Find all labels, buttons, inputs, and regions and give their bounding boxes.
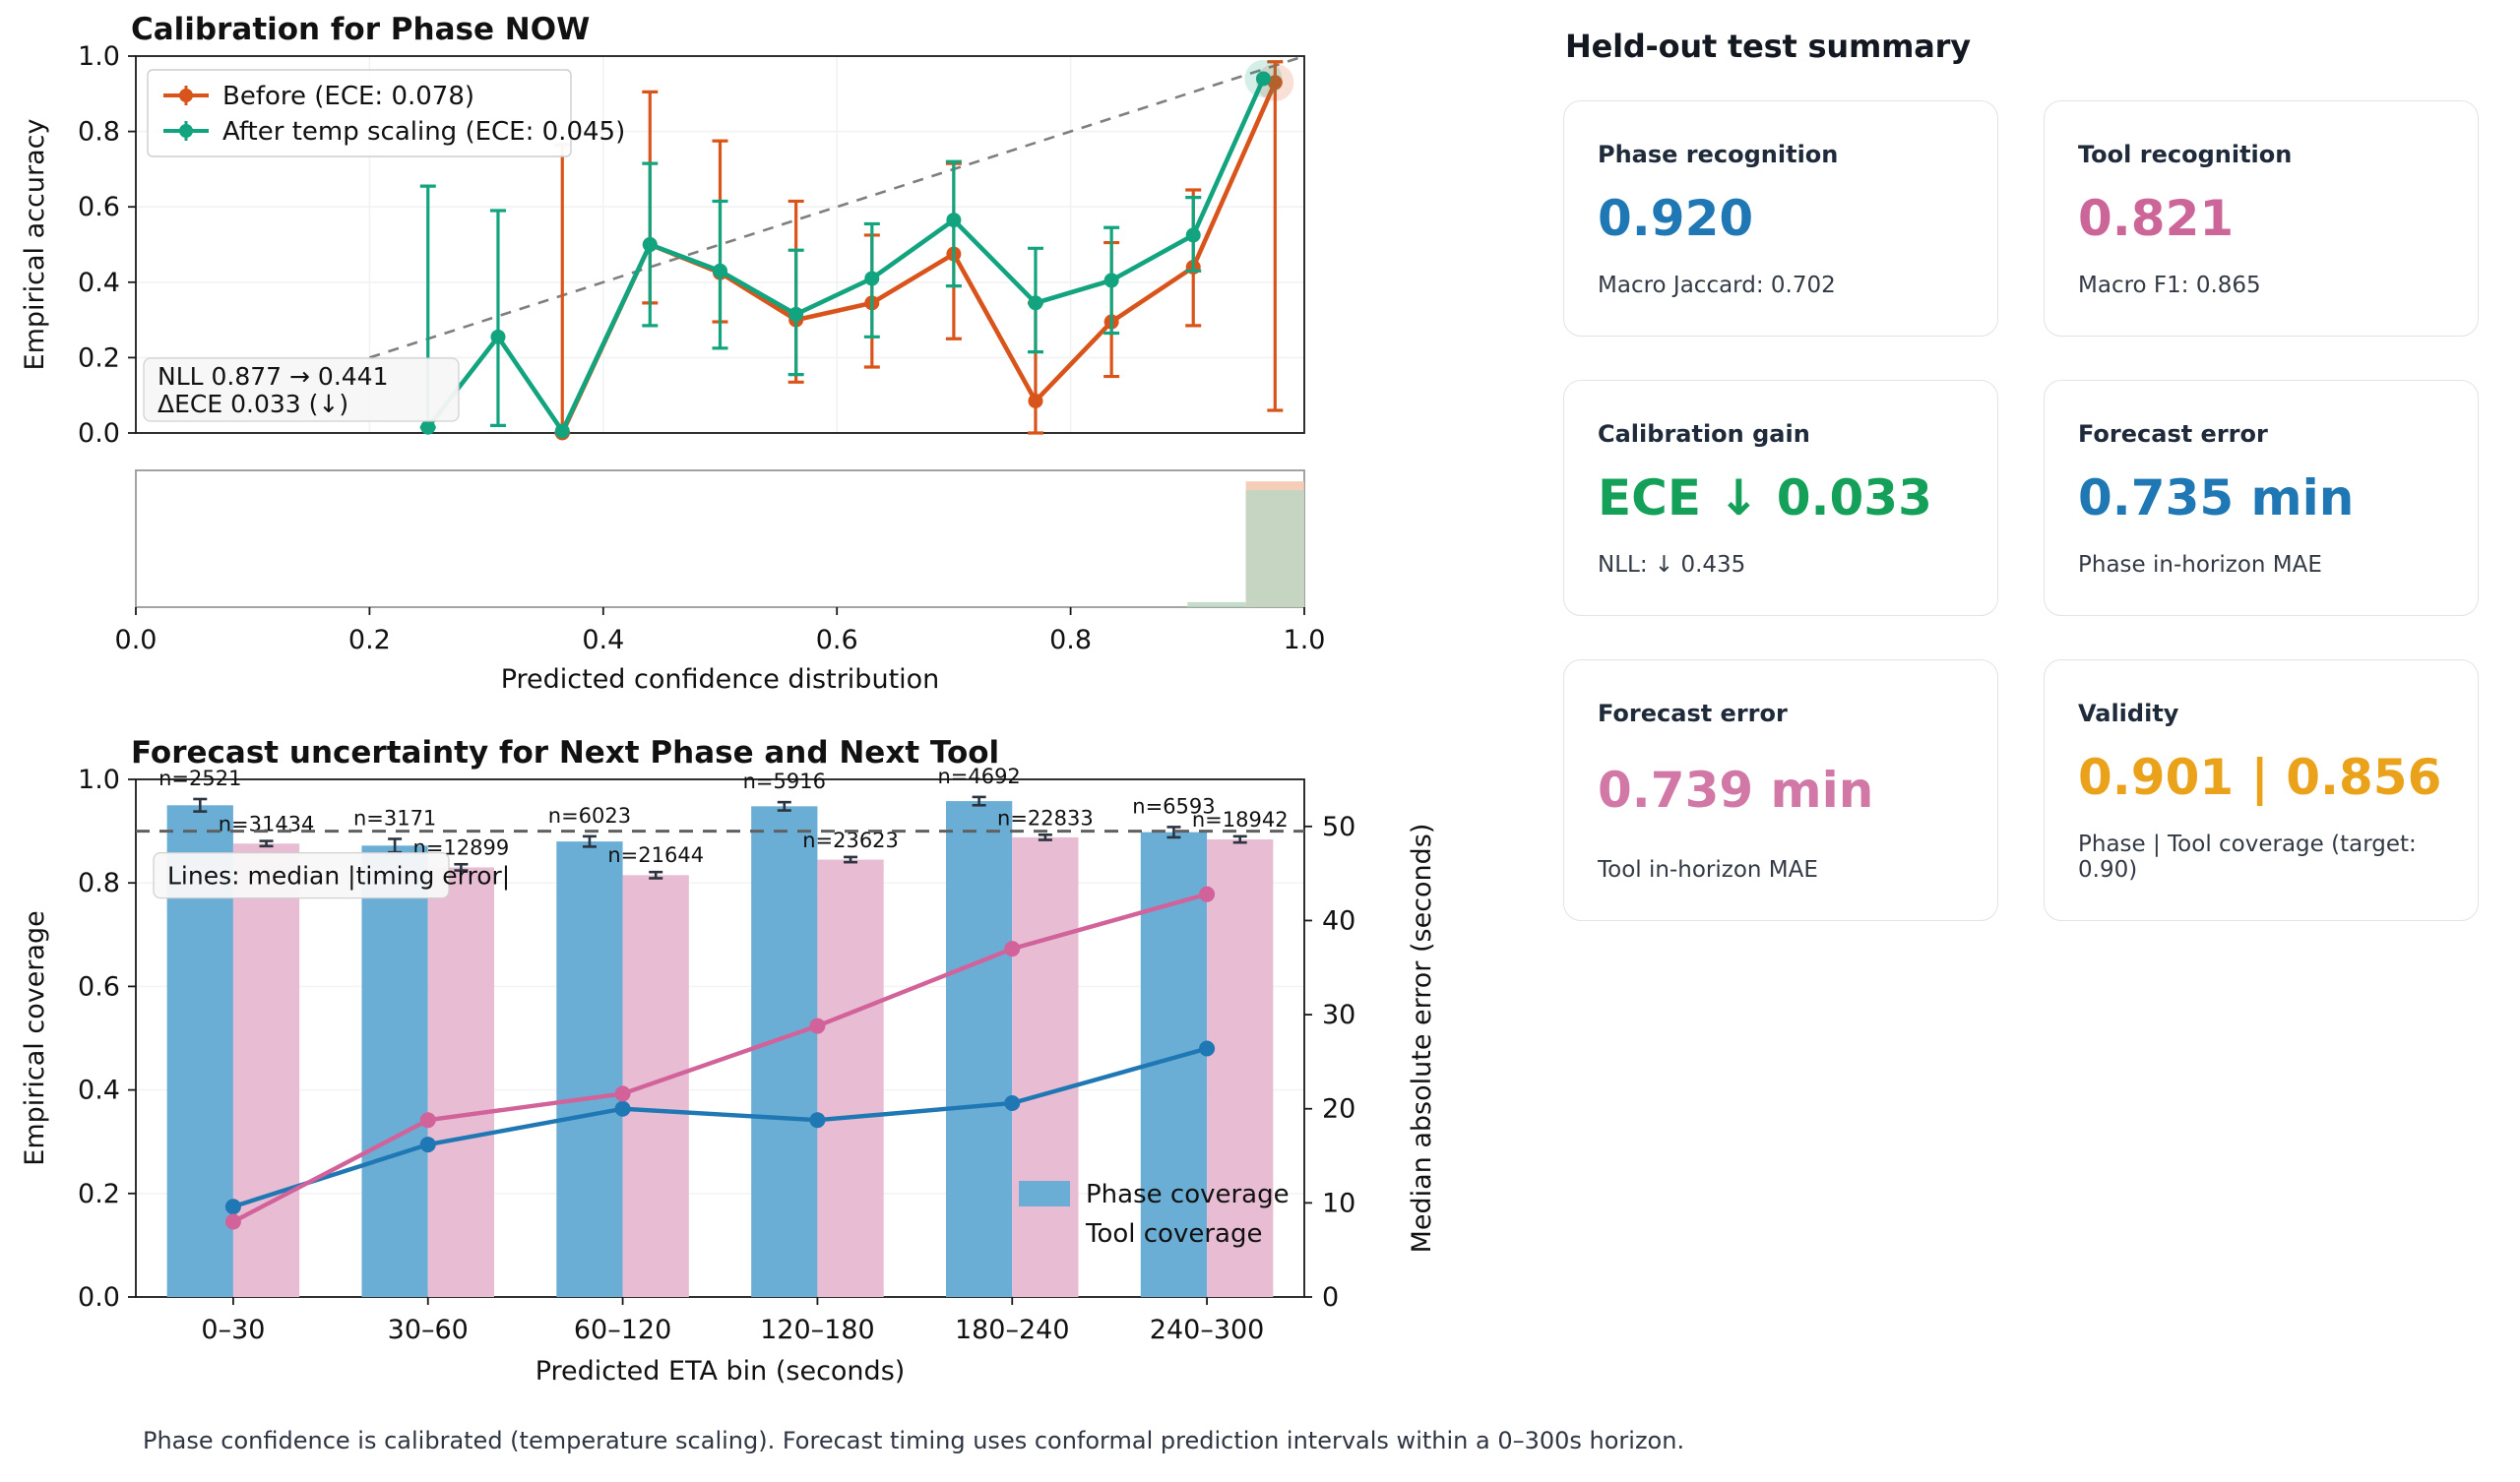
card-sublabel: Phase | Tool coverage (target: 0.90) [2078, 832, 2444, 883]
median-error-marker [615, 1085, 631, 1101]
legend-label: Tool coverage [1085, 1219, 1262, 1249]
x-tick-label: 60–120 [574, 1315, 671, 1345]
x-axis-label: Predicted confidence distribution [501, 664, 940, 689]
legend-swatch [1019, 1220, 1070, 1246]
median-error-marker [420, 1137, 436, 1152]
dashboard-root: Calibration for Phase NOW0.00.20.40.60.8… [0, 0, 2520, 1482]
x-tick-label: 0.2 [348, 625, 391, 655]
y-tick-label: 0.4 [78, 1076, 120, 1106]
y2-tick-label: 40 [1322, 905, 1355, 936]
series-marker [1028, 394, 1042, 408]
series-marker [420, 420, 435, 435]
bar-count-label: n=4692 [937, 765, 1020, 788]
x-tick-label: 0–30 [201, 1315, 265, 1345]
series-marker [1186, 227, 1201, 242]
y-axis-label: Empirical coverage [20, 910, 50, 1165]
median-error-marker [1004, 941, 1020, 957]
y-tick-label: 0.0 [78, 418, 120, 449]
forecast-chart-title: Forecast uncertainty for Next Phase and … [131, 735, 999, 771]
series-marker [864, 271, 879, 285]
x-tick-label: 0.8 [1049, 625, 1092, 655]
footer-caption: Phase confidence is calibrated (temperat… [143, 1427, 1684, 1454]
y2-tick-label: 50 [1322, 812, 1355, 842]
summary-card: Phase recognition0.920Macro Jaccard: 0.7… [1563, 100, 1998, 337]
y2-tick-label: 30 [1322, 1000, 1355, 1030]
bar [361, 845, 427, 1297]
y-axis-label: Empirical accuracy [20, 119, 50, 371]
bar [817, 860, 883, 1297]
y-tick-label: 0.0 [78, 1282, 120, 1313]
series-marker [1104, 273, 1119, 287]
x-axis-label: Predicted ETA bin (seconds) [535, 1356, 906, 1387]
card-sublabel: Tool in-horizon MAE [1598, 857, 1964, 883]
bar [233, 843, 299, 1297]
card-value: 0.739 min [1598, 766, 1964, 815]
bar-count-label: n=22833 [997, 806, 1094, 830]
x-tick-label: 120–180 [760, 1315, 875, 1345]
card-value: 0.735 min [2078, 473, 2444, 523]
card-label: Calibration gain [1598, 420, 1964, 448]
y2-tick-label: 20 [1322, 1094, 1355, 1125]
legend-label: After temp scaling (ECE: 0.045) [222, 117, 625, 147]
bar-count-label: n=18942 [1192, 808, 1289, 832]
summary-card: Validity0.901 | 0.856Phase | Tool covera… [2044, 659, 2479, 921]
x-tick-label: 240–300 [1150, 1315, 1265, 1345]
summary-card: Tool recognition0.821Macro F1: 0.865 [2044, 100, 2479, 337]
card-sublabel: Phase in-horizon MAE [2078, 552, 2444, 578]
card-label: Forecast error [1598, 700, 1964, 727]
card-sublabel: NLL: ↓ 0.435 [1598, 552, 1964, 578]
calibration-chart: Calibration for Phase NOW0.00.20.40.60.8… [0, 0, 1378, 689]
median-error-marker [809, 1019, 825, 1034]
legend-swatch [1019, 1181, 1070, 1206]
summary-card-grid: Phase recognition0.920Macro Jaccard: 0.7… [1563, 100, 2479, 921]
series-marker [1028, 295, 1042, 310]
bar [623, 875, 689, 1297]
bar [556, 841, 622, 1297]
card-label: Phase recognition [1598, 141, 1964, 168]
x-tick-label: 1.0 [1284, 625, 1326, 655]
series-marker [490, 330, 505, 344]
median-error-marker [225, 1213, 241, 1229]
card-value: 0.920 [1598, 194, 1964, 243]
histogram-bar-after [1246, 490, 1304, 607]
series-marker [643, 237, 658, 252]
series-marker [555, 424, 570, 439]
card-sublabel: Macro Jaccard: 0.702 [1598, 273, 1964, 298]
bar [751, 806, 817, 1297]
y-tick-label: 0.2 [78, 342, 120, 373]
summary-card: Forecast error0.735 minPhase in-horizon … [2044, 380, 2479, 616]
median-error-marker [615, 1101, 631, 1117]
summary-card: Calibration gainECE ↓ 0.033NLL: ↓ 0.435 [1563, 380, 1998, 616]
legend-label: Phase coverage [1086, 1180, 1290, 1209]
calibration-chart-title: Calibration for Phase NOW [131, 12, 590, 47]
y-tick-label: 0.8 [78, 868, 120, 898]
median-error-marker [1004, 1095, 1020, 1111]
card-sublabel: Macro F1: 0.865 [2078, 273, 2444, 298]
bar [428, 867, 494, 1297]
series-marker [946, 213, 961, 227]
summary-card: Forecast error0.739 minTool in-horizon M… [1563, 659, 1998, 921]
summary-panel: Held-out test summary Phase recognition0… [1563, 28, 2479, 921]
x-tick-label: 0.0 [115, 625, 157, 655]
series-marker [788, 307, 803, 322]
series-endpoint-halo [1244, 60, 1282, 97]
y-tick-label: 0.2 [78, 1179, 120, 1209]
histogram-bar-after [1187, 602, 1245, 607]
bar-count-label: n=2521 [158, 767, 241, 790]
y-tick-label: 0.8 [78, 117, 120, 148]
series-line [562, 83, 1275, 433]
card-label: Validity [2078, 700, 2444, 727]
median-error-marker [1199, 1041, 1215, 1057]
histogram-frame [136, 470, 1304, 607]
bar-count-label: n=3171 [353, 806, 436, 830]
y-tick-label: 1.0 [78, 765, 120, 795]
x-tick-label: 0.6 [816, 625, 858, 655]
y-tick-label: 0.4 [78, 268, 120, 298]
y2-tick-label: 0 [1322, 1282, 1339, 1313]
y2-tick-label: 10 [1322, 1188, 1355, 1218]
summary-title: Held-out test summary [1565, 28, 2479, 65]
y2-axis-label: Median absolute error (seconds) [1407, 824, 1437, 1254]
bar [946, 801, 1012, 1297]
median-error-marker [225, 1199, 241, 1214]
bar-count-label: n=6023 [548, 804, 631, 828]
median-error-marker [420, 1112, 436, 1128]
legend-label: Before (ECE: 0.078) [222, 82, 474, 111]
nll-annotation-line2: ΔECE 0.033 (↓) [157, 390, 348, 418]
card-label: Forecast error [2078, 420, 2444, 448]
bar-count-label: n=21644 [607, 843, 704, 867]
x-tick-label: 30–60 [388, 1315, 469, 1345]
lines-annotation-label: Lines: median |timing error| [167, 862, 510, 891]
nll-annotation-line1: NLL 0.877 → 0.441 [157, 362, 389, 391]
card-value: 0.821 [2078, 194, 2444, 243]
card-value: 0.901 | 0.856 [2078, 753, 2444, 802]
x-tick-label: 0.4 [582, 625, 624, 655]
y-tick-label: 0.6 [78, 192, 120, 222]
forecast-uncertainty-chart: Forecast uncertainty for Next Phase and … [0, 723, 1536, 1412]
median-error-marker [1199, 887, 1215, 902]
series-marker [713, 264, 727, 278]
card-label: Tool recognition [2078, 141, 2444, 168]
x-tick-label: 180–240 [955, 1315, 1070, 1345]
median-error-marker [809, 1112, 825, 1128]
bar-count-label: n=5916 [743, 770, 826, 793]
card-value: ECE ↓ 0.033 [1598, 473, 1964, 523]
y-tick-label: 0.6 [78, 971, 120, 1002]
y-tick-label: 1.0 [78, 41, 120, 72]
